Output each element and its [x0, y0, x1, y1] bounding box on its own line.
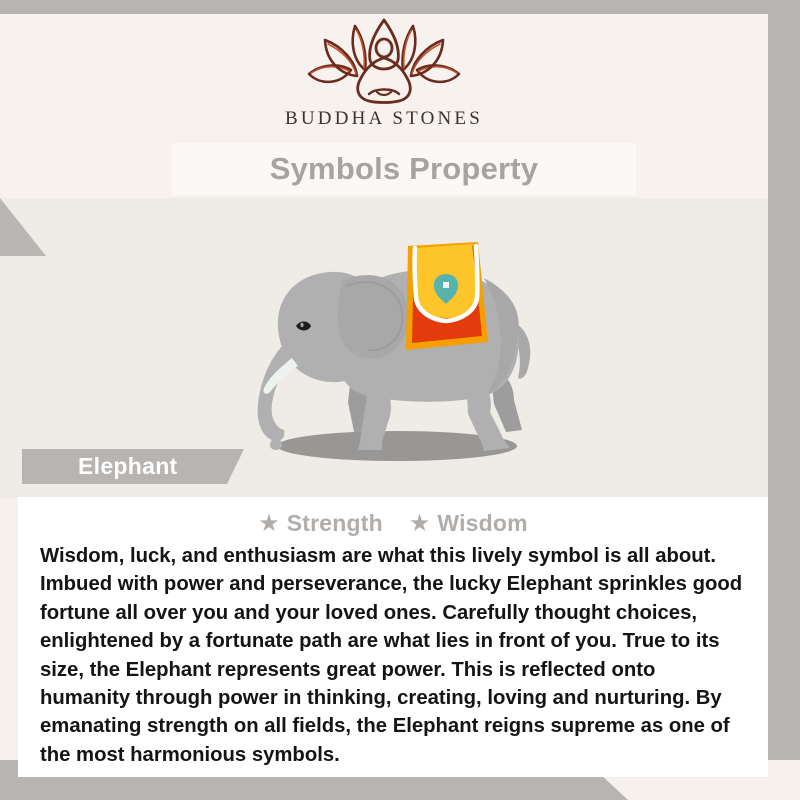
description-panel: ★ Strength ★ Wisdom Wisdom, luck, and en…	[18, 497, 768, 777]
lotus-meditation-figure-icon	[299, 18, 469, 106]
attribute-item-strength: ★ Strength	[258, 510, 383, 537]
symbol-name-ribbon: Elephant	[22, 449, 244, 484]
infographic-page: BUDDHA STONES Symbols Property	[0, 0, 800, 800]
brand-name: BUDDHA STONES	[285, 108, 483, 130]
page-title: Symbols Property	[270, 151, 539, 187]
title-band: Symbols Property	[172, 143, 636, 195]
description-text: Wisdom, luck, and enthusiasm are what th…	[18, 542, 768, 769]
attribute-label-wisdom: Wisdom	[437, 510, 527, 537]
attribute-item-wisdom: ★ Wisdom	[409, 510, 528, 537]
brand-logo: BUDDHA STONES	[0, 18, 768, 138]
top-border-band	[0, 0, 800, 14]
walking-elephant-illustration	[222, 218, 562, 468]
right-border-band	[768, 0, 800, 760]
star-icon: ★	[409, 512, 431, 536]
symbol-name-label: Elephant	[78, 453, 178, 480]
elephant-illustration	[222, 218, 562, 468]
star-icon: ★	[258, 512, 280, 536]
attribute-label-strength: Strength	[287, 510, 383, 537]
elephant-saddle	[406, 242, 488, 350]
attribute-list: ★ Strength ★ Wisdom	[18, 497, 768, 537]
